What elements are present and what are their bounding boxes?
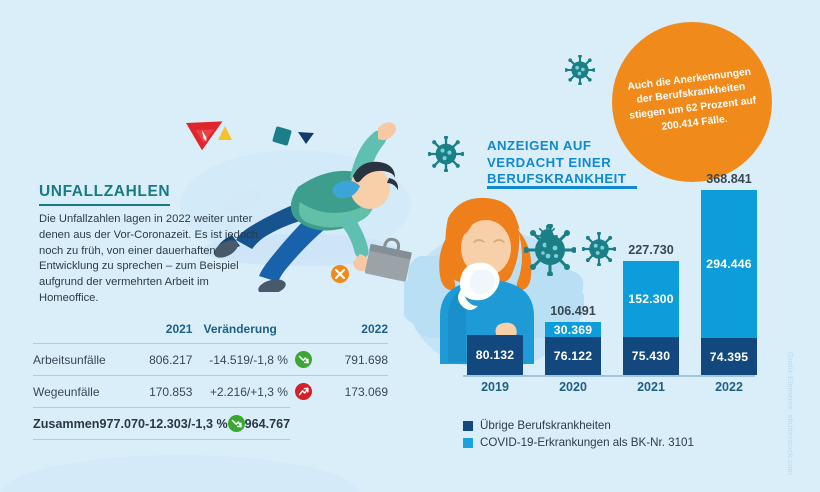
trend-down-icon [295,351,312,368]
bar-segment-other-2022: 74.395 [701,338,757,375]
x-axis-label-2020: 2020 [545,380,601,394]
bar-value-covid-2021: 152.300 [628,292,673,306]
x-axis-label-2022: 2022 [701,380,757,394]
row-value-2022: 791.698 [320,344,388,376]
chart-title-line-2: VERDACHT EINER [487,155,626,172]
page-title-unfallzahlen: UNFALLZAHLEN [39,183,170,206]
image-credit: Grafik-Elemente: shutterstock.com [786,352,795,475]
row-change: -14.519/-1,8 % [192,344,287,376]
virus-icon-top [565,55,595,85]
row-label: Zusammen [33,408,100,440]
table-row: Arbeitsunfälle 806.217 -14.519/-1,8 % 79… [33,344,388,376]
legend-swatch-dark [463,421,473,431]
bar-group-2021: 152.30075.430 [623,261,679,375]
row-trend-cell [228,408,245,440]
bar-group-2022: 294.44674.395 [701,190,757,375]
row-trend-cell [288,376,320,408]
legend-swatch-light [463,438,473,448]
legend-label-dark: Übrige Berufskrankheiten [480,419,611,432]
table-header-change: Veränderung [192,322,287,344]
bar-total-2022: 368.841 [701,172,757,186]
row-label: Wegeunfälle [33,376,126,408]
bar-value-other-2021: 75.430 [632,349,670,363]
row-label: Arbeitsunfälle [33,344,126,376]
row-change: +2.216/+1,3 % [192,376,287,408]
row-value-2021: 806.217 [126,344,193,376]
table-header-2022: 2022 [320,322,388,344]
bar-chart: 80.13230.36976.122106.491152.30075.43022… [463,190,753,375]
bar-group-2020: 30.36976.122 [545,322,601,375]
chart-baseline [463,375,755,377]
table-row-total: Zusammen 977.070 -12.303/-1,3 % 964.767 [33,407,388,440]
table-header-label [33,322,126,344]
x-axis-label-2019: 2019 [467,380,523,394]
chart-title-underline [487,186,637,189]
chart-title-line-1: ANZEIGEN AUF [487,138,626,155]
bar-total-2021: 227.730 [623,243,679,257]
chart-title: ANZEIGEN AUF VERDACHT EINER BERUFSKRANKH… [487,138,626,190]
infographic-page: UNFALLZAHLEN Die Unfallzahlen lagen in 2… [0,0,820,492]
callout-text: Auch die Anerkennungen der Berufskrankhe… [619,64,765,139]
bar-segment-covid-2021: 152.300 [623,261,679,337]
legend-item-light: COVID-19-Erkrankungen als BK-Nr. 3101 [463,436,694,449]
bar-segment-other-2021: 75.430 [623,337,679,375]
table-header-row: 2021 Veränderung 2022 [33,322,388,344]
bar-value-covid-2020: 30.369 [554,323,592,337]
callout-text-wrap: Auch die Anerkennungen der Berufskrankhe… [603,13,781,191]
bar-segment-other-2019: 80.132 [467,335,523,375]
row-trend-cell [288,344,320,376]
table-header-trend [288,322,320,344]
legend-item-dark: Übrige Berufskrankheiten [463,419,694,432]
x-axis-label-2021: 2021 [623,380,679,394]
bar-segment-covid-2020: 30.369 [545,322,601,337]
bar-segment-covid-2022: 294.446 [701,190,757,338]
row-value-2022: 964.767 [245,408,291,440]
bar-total-2020: 106.491 [545,304,601,318]
bar-value-other-2022: 74.395 [710,350,748,364]
trend-down-icon [228,415,245,432]
chart-legend: Übrige Berufskrankheiten COVID-19-Erkran… [463,419,694,453]
accident-figures-table: 2021 Veränderung 2022 Arbeitsunfälle 806… [33,322,388,407]
bar-segment-other-2020: 76.122 [545,337,601,375]
row-value-2021: 977.070 [100,408,146,440]
intro-paragraph: Die Unfallzahlen lagen in 2022 weiter un… [39,212,261,307]
row-value-2021: 170.853 [126,376,193,408]
legend-label-light: COVID-19-Erkrankungen als BK-Nr. 3101 [480,436,694,449]
trend-up-icon [295,383,312,400]
table-header-2021: 2021 [126,322,193,344]
virus-icon-left [428,136,464,172]
bar-value-other-2019: 80.132 [476,348,514,362]
bar-group-2019: 80.132 [467,335,523,375]
table-row: Wegeunfälle 170.853 +2.216/+1,3 % 173.06… [33,376,388,408]
background-blob-bottom-left [0,455,360,492]
bar-value-covid-2022: 294.446 [706,257,751,271]
row-change: -12.303/-1,3 % [145,408,228,440]
row-value-2022: 173.069 [320,376,388,408]
bar-value-other-2020: 76.122 [554,349,592,363]
